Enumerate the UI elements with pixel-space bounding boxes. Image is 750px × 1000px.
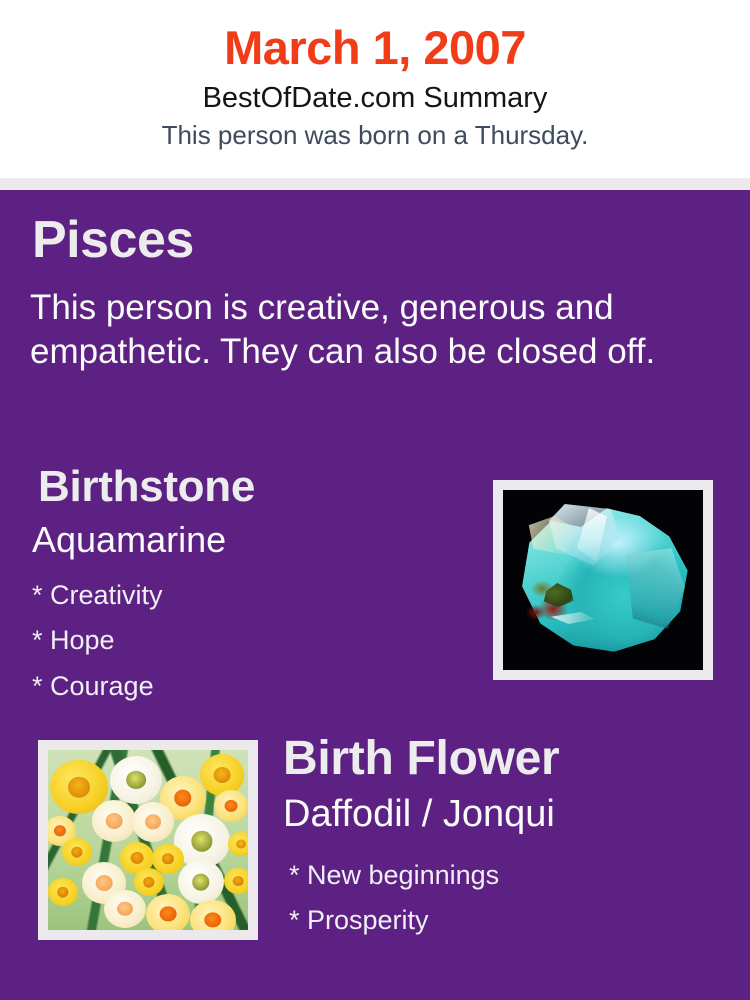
daffodil-icon [214, 790, 248, 822]
birth-flower-heading: Birth Flower [283, 735, 559, 783]
birthstone-heading: Birthstone [38, 465, 255, 509]
birthstone-name: Aquamarine [32, 522, 226, 558]
daffodil-icon [62, 838, 92, 866]
header-divider [0, 178, 750, 190]
daffodil-icon [134, 868, 164, 896]
birthstone-photo-frame [493, 480, 713, 680]
page-title: March 1, 2007 [0, 0, 750, 75]
daffodil-icon [178, 860, 224, 904]
birthstone-trait-list: * Creativity * Hope * Courage [32, 573, 163, 709]
daffodil-icon [92, 800, 136, 842]
list-item: * Courage [32, 664, 163, 709]
daffodil-icon [132, 802, 174, 842]
daffodil-icon [104, 890, 146, 928]
list-item: * Prosperity [289, 898, 499, 943]
daffodil-icon [200, 754, 244, 796]
daffodil-icon [146, 894, 190, 930]
aquamarine-crystal-photo [503, 490, 703, 670]
daffodil-field-photo [48, 750, 248, 930]
list-item: * Hope [32, 618, 163, 663]
daffodil-icon [224, 868, 248, 894]
born-weekday-text: This person was born on a Thursday. [0, 115, 750, 151]
list-item: * New beginnings [289, 853, 499, 898]
daffodil-icon [48, 878, 78, 906]
page-header: March 1, 2007 BestOfDate.com Summary Thi… [0, 0, 750, 178]
birth-flower-trait-list: * New beginnings * Prosperity [289, 853, 499, 944]
zodiac-description: This person is creative, generous and em… [30, 286, 702, 375]
site-summary-label: BestOfDate.com Summary [0, 75, 750, 115]
birth-flower-name: Daffodil / Jonqui [283, 795, 555, 833]
birthday-summary-page: March 1, 2007 BestOfDate.com Summary Thi… [0, 0, 750, 1000]
list-item: * Creativity [32, 573, 163, 618]
daffodil-icon [228, 832, 248, 856]
daffodil-icon [110, 756, 162, 804]
zodiac-sign-heading: Pisces [32, 214, 194, 266]
birth-flower-photo-frame [38, 740, 258, 940]
